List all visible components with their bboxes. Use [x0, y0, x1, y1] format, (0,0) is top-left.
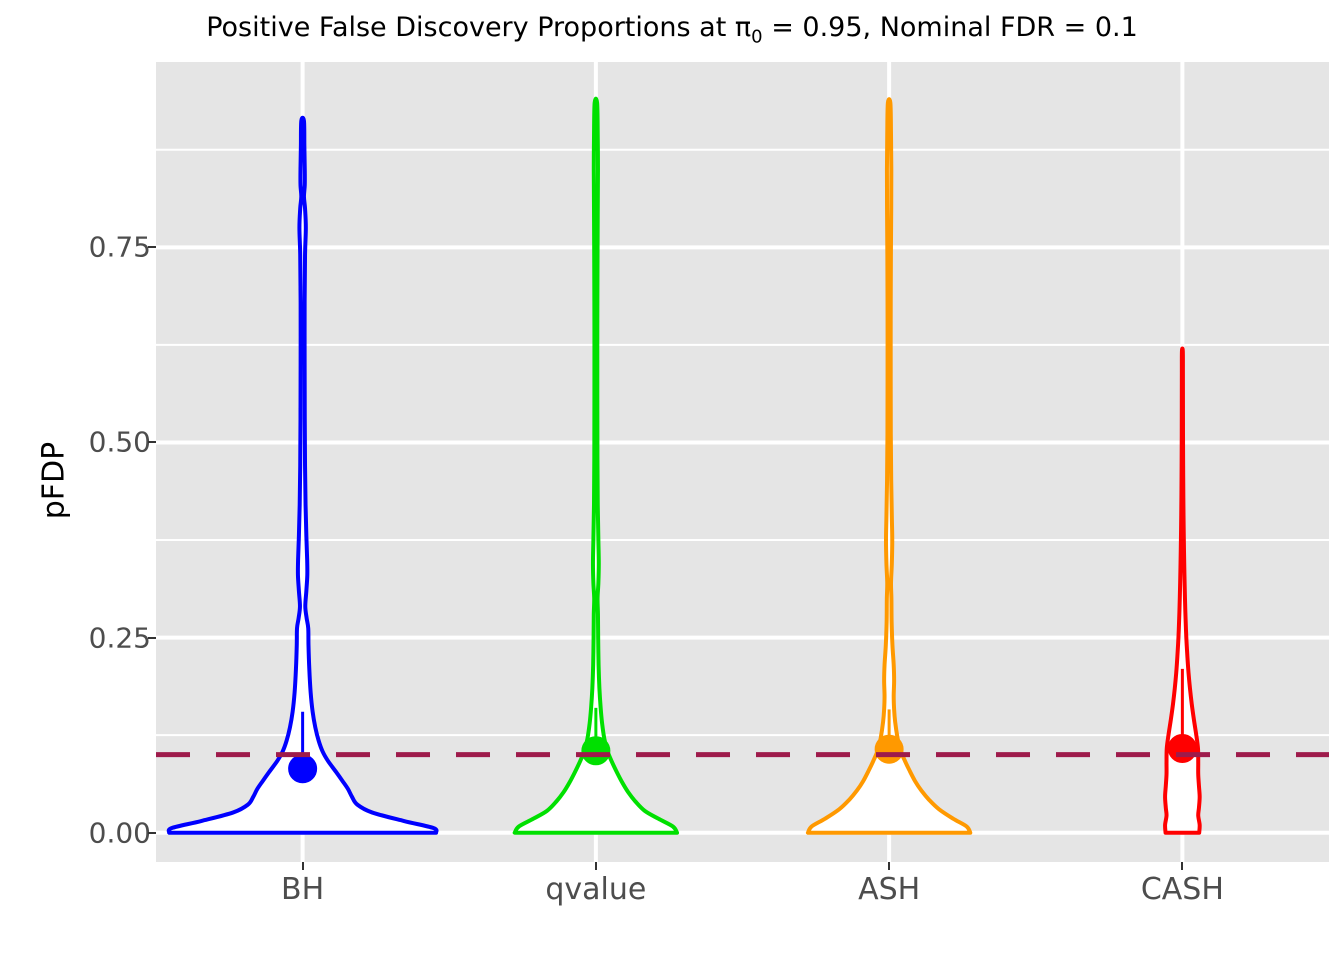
y-tick-label: 0.50 [89, 426, 151, 459]
x-tick-label-bh: BH [281, 872, 324, 907]
chart-title: Positive False Discovery Proportions at … [0, 12, 1344, 47]
x-tick-mark [302, 862, 304, 870]
plot-panel [156, 62, 1329, 862]
violin-plot-svg [156, 62, 1329, 862]
x-tick-mark [595, 862, 597, 870]
x-tick-mark [888, 862, 890, 870]
grid-lines [156, 62, 1329, 862]
y-tick-mark [148, 832, 156, 834]
y-tick-label: 0.25 [89, 621, 151, 654]
chart-title-prefix: Positive False Discovery Proportions at [206, 12, 735, 43]
violin-bh [169, 118, 437, 833]
x-tick-label-cash: CASH [1141, 872, 1224, 907]
median-point-bh [289, 755, 317, 783]
x-tick-label-qvalue: qvalue [545, 872, 646, 907]
x-tick-mark [1181, 862, 1183, 870]
chart-root: Positive False Discovery Proportions at … [0, 0, 1344, 960]
y-tick-mark [148, 637, 156, 639]
y-tick-label: 0.00 [89, 816, 151, 849]
median-point-ash [875, 735, 903, 763]
violin-qvalue [515, 99, 677, 833]
median-point-cash [1168, 734, 1196, 762]
y-tick-mark [148, 441, 156, 443]
violin-cash [1165, 349, 1200, 833]
y-tick-mark [148, 246, 156, 248]
violin-ash [808, 99, 970, 833]
y-tick-label: 0.75 [89, 231, 151, 264]
chart-title-pi-subscript: 0 [751, 26, 762, 47]
y-axis-title-text: pFDP [37, 441, 72, 519]
chart-title-suffix: = 0.95, Nominal FDR = 0.1 [763, 12, 1138, 43]
chart-title-pi-symbol: π [735, 12, 751, 43]
x-tick-label-ash: ASH [858, 872, 920, 907]
median-point-qvalue [582, 737, 610, 765]
